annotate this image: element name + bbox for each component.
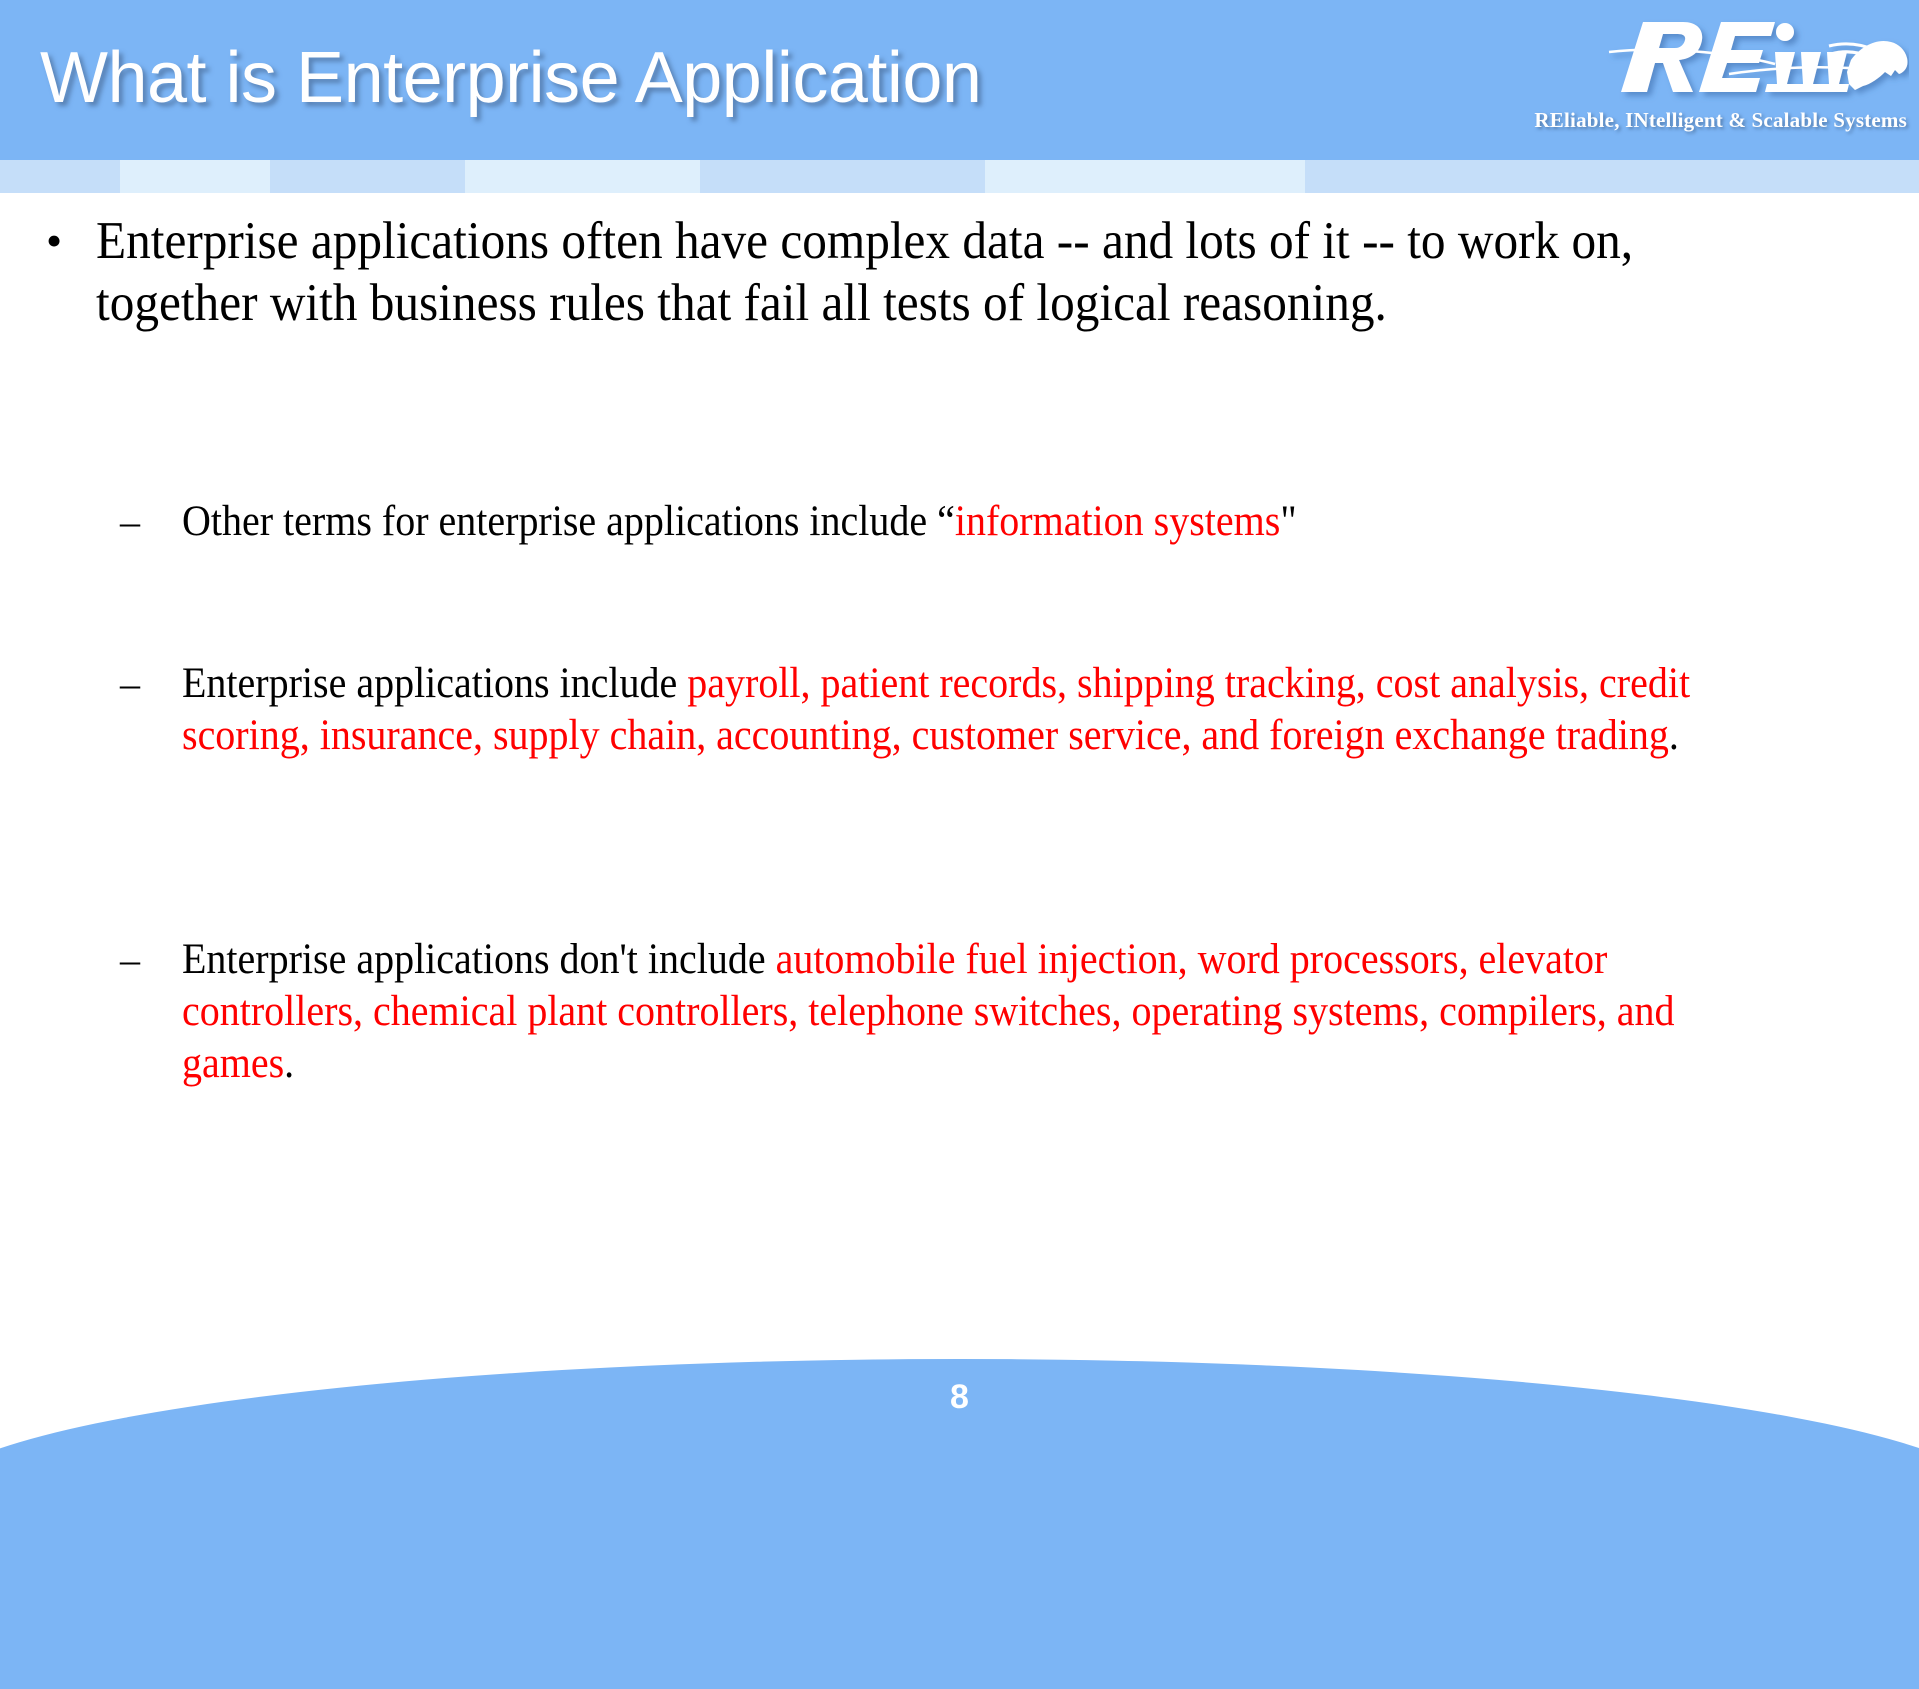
logo-tagline: REliable, INtelligent & Scalable Systems [1469, 108, 1907, 133]
stripe-1 [0, 160, 120, 193]
bullet-dash-icon: – [120, 934, 182, 986]
slide: What is Enterprise Application [0, 0, 1919, 1439]
brand-logo: REliable, INtelligent & Scalable Systems [1469, 8, 1909, 148]
stripe-6 [985, 160, 1305, 193]
bullet-text: Enterprise applications don't include au… [182, 934, 1780, 1090]
bullet-dash-icon: – [120, 496, 182, 548]
stripe-5 [700, 160, 985, 193]
bullet-item-level2: –Other terms for enterprise applications… [120, 496, 1900, 548]
text-run-black: Enterprise applications don't include [182, 936, 776, 983]
text-run-black: Other terms for enterprise applications … [182, 498, 955, 545]
rein-logo-icon [1579, 8, 1909, 104]
slide-content: •Enterprise applications often have comp… [0, 196, 1919, 1336]
page-number: 8 [0, 1378, 1919, 1417]
text-run-black: " [1280, 498, 1296, 545]
bullet-dash-icon: – [120, 658, 182, 710]
text-run-black: Enterprise applications include [182, 660, 687, 707]
text-run-red: information systems [955, 498, 1280, 545]
stripe-3 [270, 160, 465, 193]
bullet-text: Other terms for enterprise applications … [182, 496, 1780, 548]
bullet-text: Enterprise applications often have compl… [96, 210, 1768, 334]
stripe-7 [1305, 160, 1919, 193]
stripe-2 [120, 160, 270, 193]
bullet-item-level2: –Enterprise applications don't include a… [120, 934, 1900, 1090]
bullet-item-level1: •Enterprise applications often have comp… [24, 210, 1894, 334]
stripe-4 [465, 160, 700, 193]
bullet-item-level2: –Enterprise applications include payroll… [120, 658, 1900, 762]
text-run-black: . [284, 1040, 294, 1087]
bullet-dot-icon: • [24, 210, 96, 272]
decorative-stripe-band [0, 160, 1919, 193]
text-run-black: Enterprise applications often have compl… [96, 212, 1633, 332]
text-run-black: . [1669, 712, 1679, 759]
bullet-text: Enterprise applications include payroll,… [182, 658, 1780, 762]
page-title: What is Enterprise Application [40, 30, 1390, 130]
